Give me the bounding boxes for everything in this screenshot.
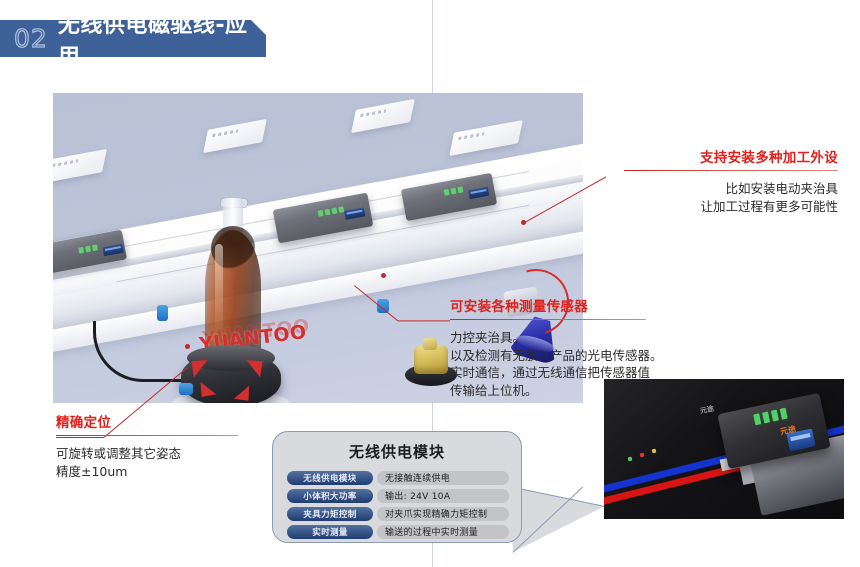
annotation-line: 力控夹治具。	[450, 329, 710, 347]
blue-connector	[157, 305, 168, 321]
status-led-green	[628, 457, 633, 462]
inset-photo: 元途 元途	[604, 379, 844, 519]
bottle-highlight	[215, 244, 223, 334]
annotation-sensor-title: 可安装各种测量传感器	[450, 295, 710, 315]
sensor-knob	[423, 338, 437, 350]
spec-label: 实时测量	[287, 525, 373, 539]
page-title: 无线供电磁驱线-应用	[58, 7, 266, 71]
annotation-peripheral: 支持安装多种加工外设 比如安装电动夹治具 让加工过程有更多可能性	[606, 146, 838, 215]
station-block	[203, 119, 267, 153]
spec-row: 实时测量 输送的过程中实时测量	[287, 524, 509, 539]
status-led-red	[640, 453, 645, 458]
spec-value: 输出: 24V 10A	[377, 489, 509, 503]
spec-row: 夹具力矩控制 对夹爪实现精确力矩控制	[287, 506, 509, 521]
annotation-line: 可旋转或调整其它姿态	[56, 445, 276, 463]
spec-label: 无线供电模块	[287, 471, 373, 485]
spec-row: 小体积大功率 输出: 24V 10A	[287, 488, 509, 503]
annotation-peripheral-title: 支持安装多种加工外设	[606, 146, 838, 166]
section-number: 02	[14, 26, 48, 51]
station-block	[449, 120, 523, 156]
spec-label: 夹具力矩控制	[287, 507, 373, 521]
spec-card-title: 无线供电模块	[273, 441, 521, 462]
station-block	[351, 99, 415, 133]
spec-value: 无接触连续供电	[377, 471, 509, 485]
annotation-peripheral-body: 比如安装电动夹治具 让加工过程有更多可能性	[606, 180, 838, 215]
spec-label: 小体积大功率	[287, 489, 373, 503]
annotation-position-rule	[56, 435, 238, 436]
blue-connector	[179, 383, 193, 395]
annotation-position: 精确定位 可旋转或调整其它姿态 精度±10um	[56, 411, 276, 480]
spec-row: 无线供电模块 无接触连续供电	[287, 470, 509, 485]
annotation-peripheral-rule	[624, 170, 838, 171]
leader-dot-position	[185, 344, 190, 349]
leader-line-sensor-h	[398, 320, 450, 321]
status-led-yellow	[652, 449, 657, 454]
spec-row-list: 无线供电模块 无接触连续供电 小体积大功率 输出: 24V 10A 夹具力矩控制…	[287, 470, 509, 539]
annotation-line: 比如安装电动夹治具	[606, 180, 838, 198]
leader-dot-peripheral	[521, 220, 526, 225]
spec-card: 无线供电模块 无线供电模块 无接触连续供电 小体积大功率 输出: 24V 10A…	[272, 431, 522, 543]
annotation-position-body: 可旋转或调整其它姿态 精度±10um	[56, 445, 276, 480]
spec-value: 对夹爪实现精确力矩控制	[377, 507, 509, 521]
sensor-cap	[414, 346, 448, 374]
annotation-position-title: 精确定位	[56, 411, 276, 431]
slide-canvas: 02 无线供电磁驱线-应用	[0, 0, 860, 567]
annotation-sensor-rule	[450, 319, 646, 320]
annotation-line: 以及检测有无放入产品的光电传感器。	[450, 347, 710, 365]
section-banner: 02 无线供电磁驱线-应用	[0, 20, 266, 57]
leader-dot-sensor	[381, 273, 386, 278]
spec-value: 输送的过程中实时测量	[377, 525, 509, 539]
annotation-line: 让加工过程有更多可能性	[606, 198, 838, 216]
annotation-line: 精度±10um	[56, 463, 276, 481]
station-block	[53, 149, 107, 183]
